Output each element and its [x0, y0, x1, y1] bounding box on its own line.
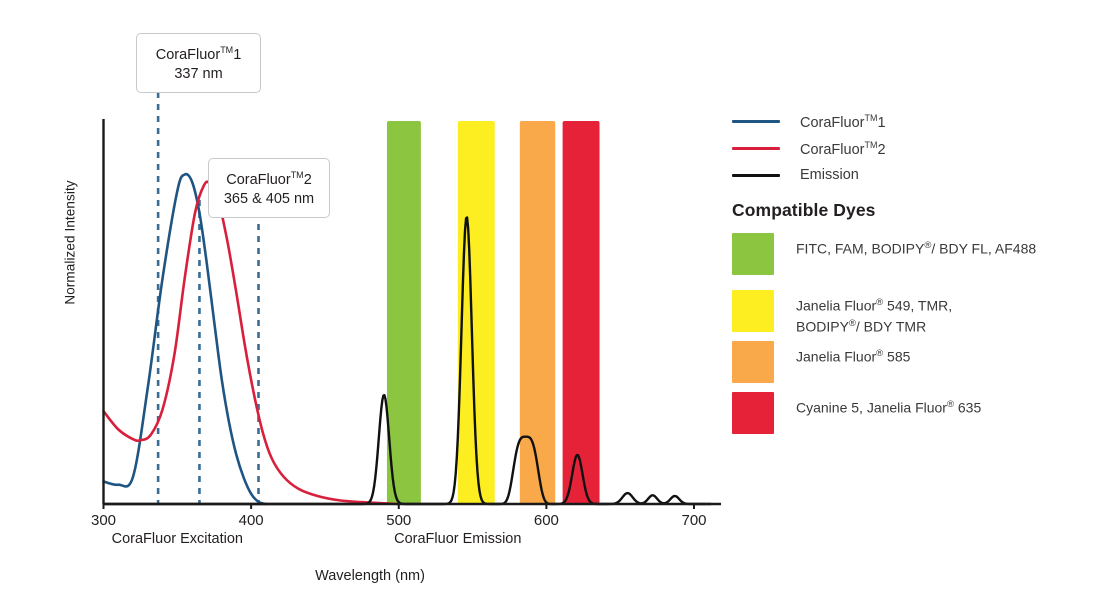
figure-root: Normalized Intensity 300400500600700 Cor… [0, 0, 1110, 612]
corafluor1-callout: CoraFluorTM1 337 nm [136, 33, 261, 93]
legend-swatch-line [732, 174, 780, 177]
corafluor2-callout-line1: CoraFluorTM2 [226, 172, 312, 188]
dye-row-0: FITC, FAM, BODIPY®/ BDY FL, AF488 [732, 233, 1036, 275]
dye-label: Janelia Fluor® 549, TMR,BODIPY®/ BDY TMR [796, 290, 952, 336]
spectra-plot: Normalized Intensity 300400500600700 Cor… [0, 0, 740, 612]
dye-row-2: Janelia Fluor® 585 [732, 341, 910, 383]
dye-row-3: Cyanine 5, Janelia Fluor® 635 [732, 392, 981, 434]
curve-corafluor2 [104, 182, 399, 504]
y-axis-title: Normalized Intensity [63, 153, 78, 333]
corafluor1-callout-line1: CoraFluorTM1 [156, 47, 242, 63]
legend-label: CoraFluorTM1 [800, 113, 886, 131]
legend-row-1: CoraFluorTM2 [732, 140, 886, 158]
dye-row-1: Janelia Fluor® 549, TMR,BODIPY®/ BDY TMR [732, 290, 952, 336]
legend-swatch-line [732, 147, 780, 150]
x-tick-label-400: 400 [221, 512, 281, 529]
corafluor2-callout-line2: 365 & 405 nm [219, 190, 319, 209]
legend-row-2: Emission [732, 167, 859, 183]
legend-row-0: CoraFluorTM1 [732, 113, 886, 131]
dye-label: FITC, FAM, BODIPY®/ BDY FL, AF488 [796, 233, 1036, 258]
corafluor2-callout: CoraFluorTM2 365 & 405 nm [208, 158, 330, 218]
dye-color-swatch [732, 341, 774, 383]
x-axis-title: Wavelength (nm) [280, 568, 460, 584]
dye-color-swatch [732, 233, 774, 275]
orange-band [520, 121, 555, 504]
dye-color-swatch [732, 392, 774, 434]
dye-color-swatch [732, 290, 774, 332]
dye-label: Cyanine 5, Janelia Fluor® 635 [796, 392, 981, 417]
x-tick-label-300: 300 [74, 512, 134, 529]
dye-label: Janelia Fluor® 585 [796, 341, 910, 366]
curve-corafluor1 [104, 174, 266, 504]
legend-swatch-line [732, 120, 780, 123]
x-tick-label-700: 700 [664, 512, 724, 529]
legend-panel: CoraFluorTM1CoraFluorTM2Emission Compati… [728, 0, 1110, 612]
red-band [563, 121, 600, 504]
compatible-dyes-title: Compatible Dyes [732, 200, 875, 221]
legend-label: CoraFluorTM2 [800, 140, 886, 158]
x-tick-label-500: 500 [369, 512, 429, 529]
legend-label: Emission [800, 167, 859, 183]
corafluor1-callout-line2: 337 nm [147, 65, 250, 84]
axis-sublabel-emission: CoraFluor Emission [358, 531, 558, 547]
x-tick-label-600: 600 [516, 512, 576, 529]
axis-sublabel-excitation: CoraFluor Excitation [77, 531, 277, 547]
green-band [387, 121, 421, 504]
